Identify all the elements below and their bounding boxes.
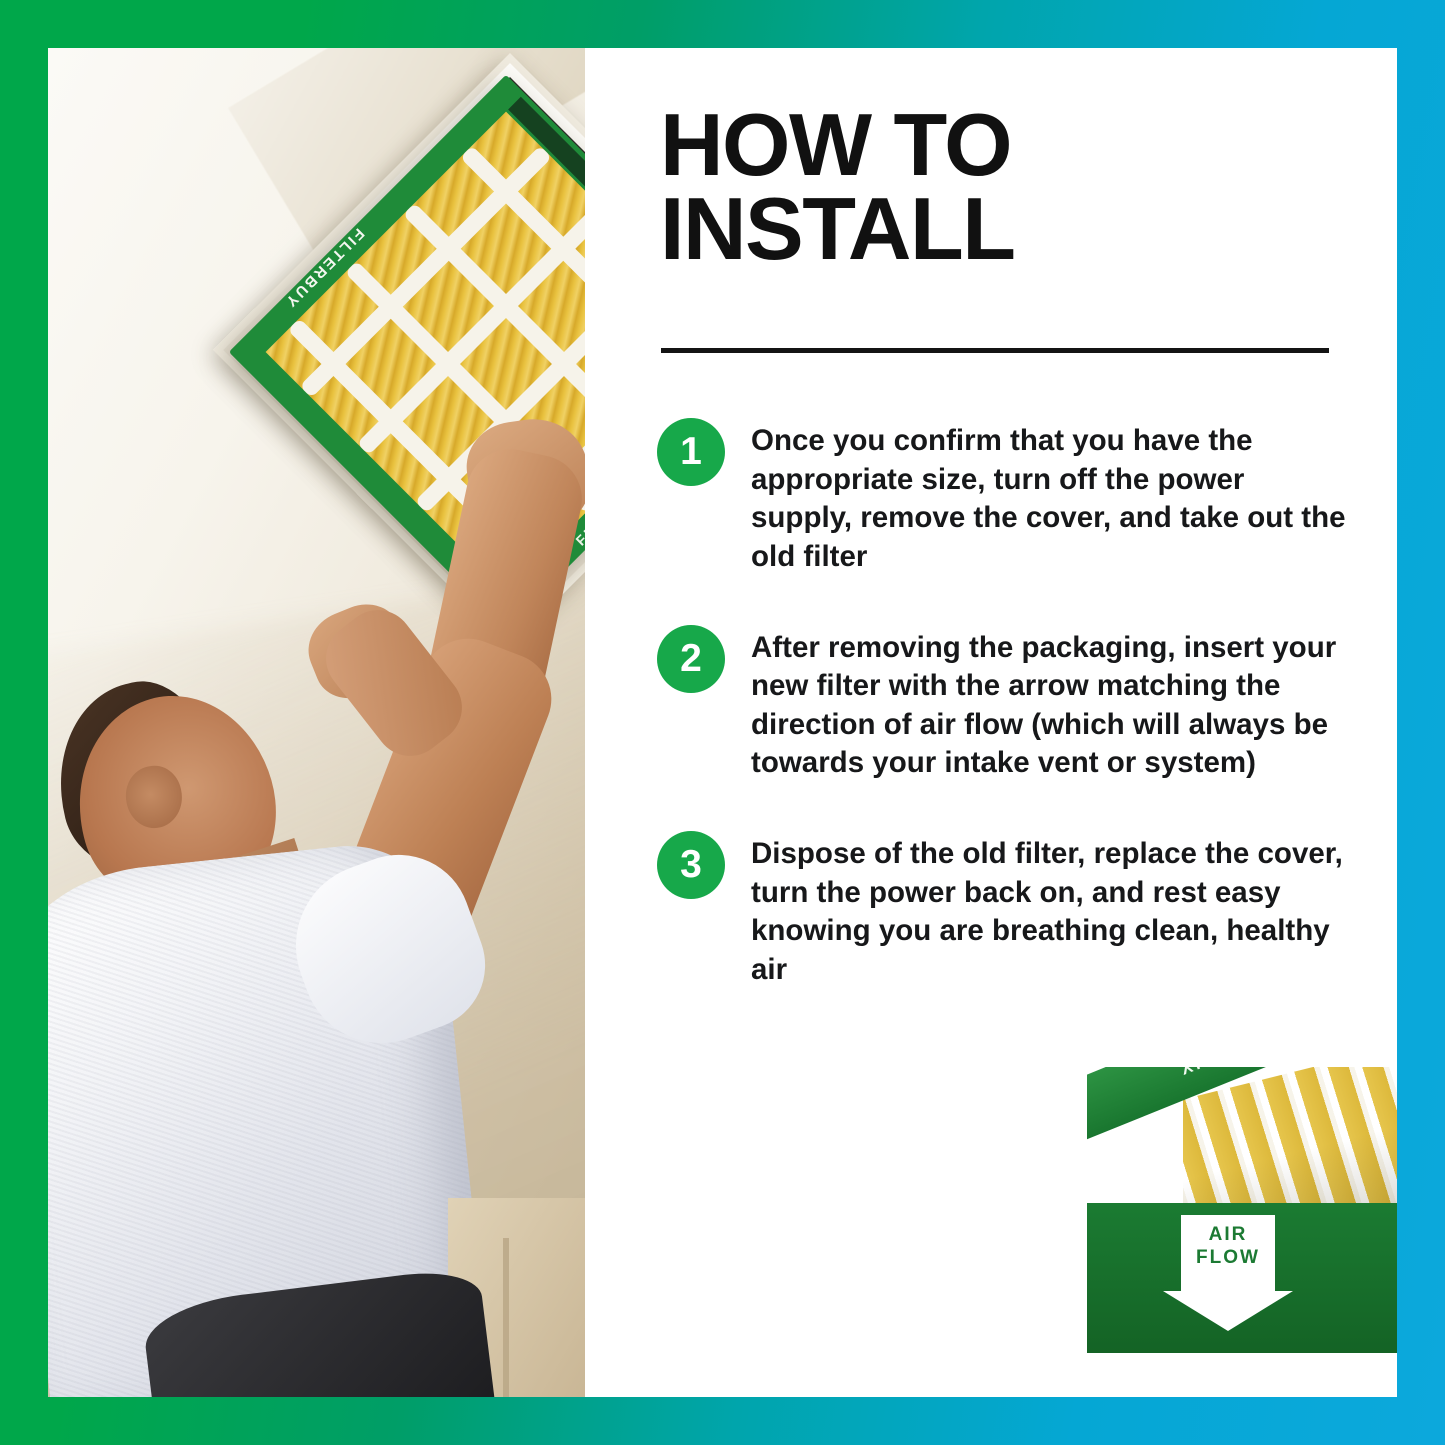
step-item: 1 Once you confirm that you have the app… [657, 418, 1347, 577]
air-flow-line-1: AIR [1209, 1224, 1248, 1245]
arrow-head [1163, 1291, 1293, 1331]
step-item: 2 After removing the packaging, insert y… [657, 625, 1347, 784]
step-number-badge: 2 [657, 625, 725, 693]
content-panel: HOW TO INSTALL 1 Once you confirm that y… [585, 48, 1397, 1397]
step-text: Dispose of the old filter, replace the c… [751, 831, 1347, 990]
air-flow-arrow: AIR FLOW [1163, 1215, 1293, 1331]
step-number-badge: 1 [657, 418, 725, 486]
step-item: 3 Dispose of the old filter, replace the… [657, 831, 1347, 990]
title-divider [661, 348, 1329, 353]
step-text: After removing the packaging, insert you… [751, 625, 1347, 784]
product-filter-image: FILTERBUY AIR FLOW [1087, 1067, 1397, 1397]
install-photo: FILTERBUY FILTERBUY [48, 48, 585, 1397]
air-flow-line-2: FLOW [1196, 1247, 1260, 1268]
card-inner: FILTERBUY FILTERBUY HOW TO INSTALL [48, 48, 1397, 1397]
step-number-badge: 3 [657, 831, 725, 899]
infographic-card: FILTERBUY FILTERBUY HOW TO INSTALL [0, 0, 1445, 1445]
air-flow-label: AIR FLOW [1163, 1223, 1293, 1269]
title-line-2: INSTALL [660, 187, 1360, 271]
step-text: Once you confirm that you have the appro… [751, 418, 1347, 577]
page-title: HOW TO INSTALL [660, 103, 1360, 272]
steps-list: 1 Once you confirm that you have the app… [657, 418, 1347, 1038]
door-edge-line [503, 1238, 509, 1397]
